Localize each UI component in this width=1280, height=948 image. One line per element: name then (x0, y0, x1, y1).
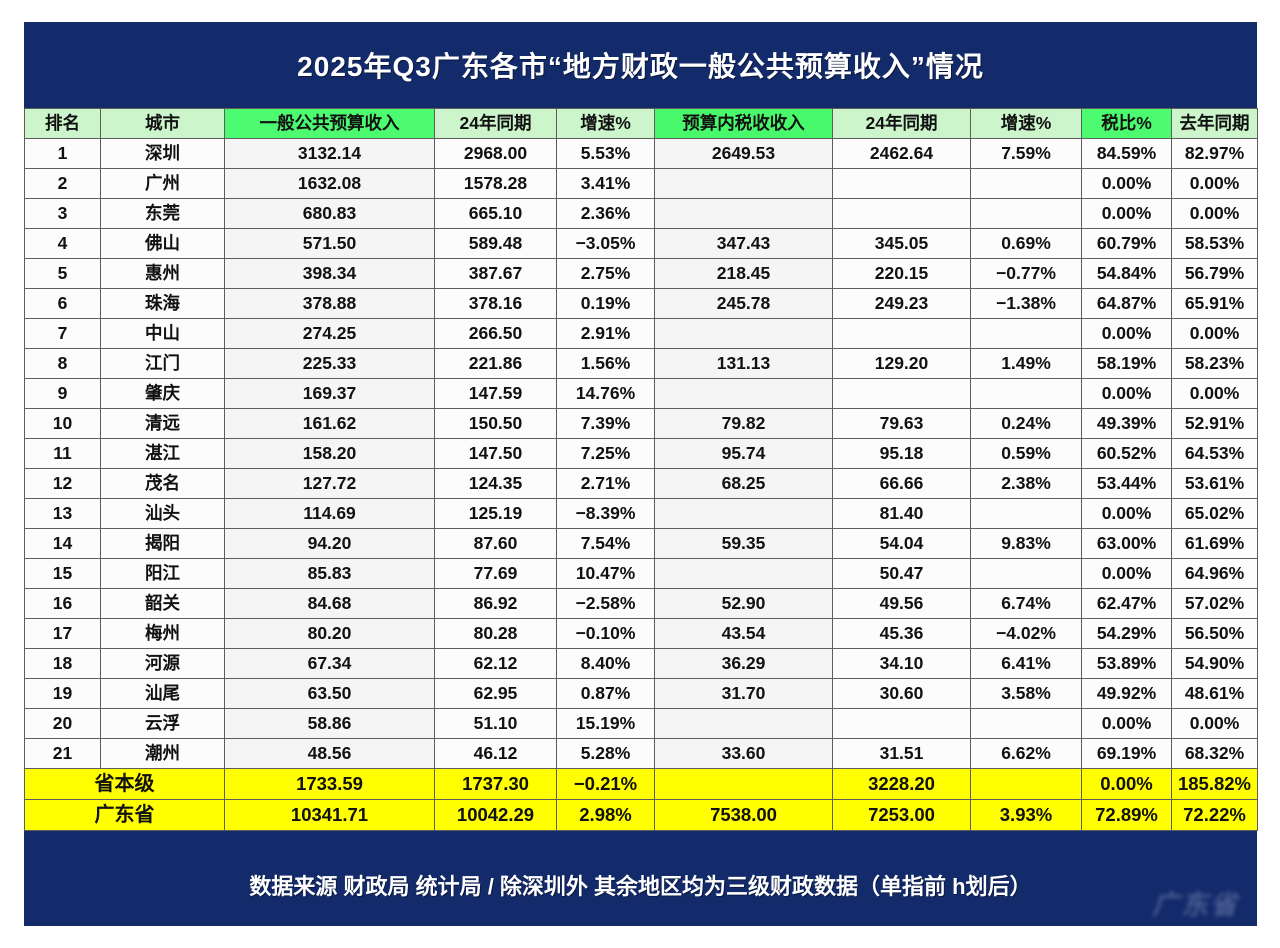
cell-revenue-prior: 221.86 (435, 349, 557, 379)
cell-tax-ratio: 64.87% (1082, 289, 1172, 319)
cell-city: 河源 (101, 649, 225, 679)
cell-tax-ratio-prior: 0.00% (1172, 379, 1258, 409)
table-row: 16韶关84.6886.92−2.58%52.9049.566.74%62.47… (25, 589, 1258, 619)
cell-tax-ratio-prior: 65.91% (1172, 289, 1258, 319)
cell-tax-prior: 81.40 (833, 499, 971, 529)
cell-tax-ratio-prior: 54.90% (1172, 649, 1258, 679)
cell-tax-prior: 7253.00 (833, 800, 971, 831)
cell-general-revenue: 94.20 (225, 529, 435, 559)
table-row: 15阳江85.8377.6910.47%50.470.00%64.96% (25, 559, 1258, 589)
cell-tax-revenue: 245.78 (655, 289, 833, 319)
cell-tax-prior: 49.56 (833, 589, 971, 619)
cell-tax-ratio: 53.89% (1082, 649, 1172, 679)
footer-note: 数据来源 财政局 统计局 / 除深圳外 其余地区均为三级财政数据（单指前 h划后… (249, 856, 1031, 901)
table-body: 1深圳3132.142968.005.53%2649.532462.647.59… (25, 139, 1258, 831)
col-header-revenue-growth: 增速% (557, 109, 655, 139)
cell-tax-ratio: 49.92% (1082, 679, 1172, 709)
table-row: 5惠州398.34387.672.75%218.45220.15−0.77%54… (25, 259, 1258, 289)
cell-city: 清远 (101, 409, 225, 439)
cell-revenue-prior: 10042.29 (435, 800, 557, 831)
table-row: 18河源67.3462.128.40%36.2934.106.41%53.89%… (25, 649, 1258, 679)
cell-city: 肇庆 (101, 379, 225, 409)
cell-general-revenue: 3132.14 (225, 139, 435, 169)
cell-city: 中山 (101, 319, 225, 349)
cell-general-revenue: 114.69 (225, 499, 435, 529)
col-header-tax-ratio: 税比% (1082, 109, 1172, 139)
cell-tax-revenue (655, 709, 833, 739)
cell-tax-growth: 1.49% (971, 349, 1082, 379)
cell-general-revenue: 169.37 (225, 379, 435, 409)
summary-row: 广东省10341.7110042.292.98%7538.007253.003.… (25, 800, 1258, 831)
cell-revenue-growth: −2.58% (557, 589, 655, 619)
table-row: 14揭阳94.2087.607.54%59.3554.049.83%63.00%… (25, 529, 1258, 559)
cell-tax-prior: 31.51 (833, 739, 971, 769)
cell-revenue-growth: 2.98% (557, 800, 655, 831)
cell-revenue-growth: 2.75% (557, 259, 655, 289)
table-row: 4佛山571.50589.48−3.05%347.43345.050.69%60… (25, 229, 1258, 259)
cell-revenue-growth: 0.19% (557, 289, 655, 319)
cell-tax-revenue: 33.60 (655, 739, 833, 769)
cell-tax-ratio-prior: 58.23% (1172, 349, 1258, 379)
cell-general-revenue: 10341.71 (225, 800, 435, 831)
cell-general-revenue: 127.72 (225, 469, 435, 499)
cell-tax-prior: 79.63 (833, 409, 971, 439)
cell-rank: 4 (25, 229, 101, 259)
cell-revenue-prior: 62.12 (435, 649, 557, 679)
table-row: 13汕头114.69125.19−8.39%81.400.00%65.02% (25, 499, 1258, 529)
col-header-tax-growth: 增速% (971, 109, 1082, 139)
table-row: 3东莞680.83665.102.36%0.00%0.00% (25, 199, 1258, 229)
cell-rank: 1 (25, 139, 101, 169)
cell-tax-ratio: 60.79% (1082, 229, 1172, 259)
cell-tax-revenue (655, 319, 833, 349)
cell-tax-ratio: 60.52% (1082, 439, 1172, 469)
cell-tax-ratio: 53.44% (1082, 469, 1172, 499)
cell-city: 茂名 (101, 469, 225, 499)
cell-tax-ratio-prior: 0.00% (1172, 199, 1258, 229)
cell-tax-growth: −1.38% (971, 289, 1082, 319)
cell-rank: 18 (25, 649, 101, 679)
cell-tax-ratio-prior: 0.00% (1172, 709, 1258, 739)
cell-general-revenue: 1733.59 (225, 769, 435, 800)
cell-tax-prior (833, 379, 971, 409)
cell-tax-ratio: 0.00% (1082, 559, 1172, 589)
cell-tax-ratio-prior: 57.02% (1172, 589, 1258, 619)
page-root: 2025年Q3广东各市“地方财政一般公共预算收入”情况 排名 城市 一 (0, 0, 1280, 948)
cell-revenue-growth: −8.39% (557, 499, 655, 529)
cell-tax-revenue: 31.70 (655, 679, 833, 709)
cell-city: 湛江 (101, 439, 225, 469)
cell-city: 惠州 (101, 259, 225, 289)
cell-revenue-growth: 1.56% (557, 349, 655, 379)
cell-revenue-prior: 150.50 (435, 409, 557, 439)
cell-tax-ratio-prior: 61.69% (1172, 529, 1258, 559)
cell-revenue-growth: 8.40% (557, 649, 655, 679)
cell-tax-prior: 3228.20 (833, 769, 971, 800)
page-title: 2025年Q3广东各市“地方财政一般公共预算收入”情况 (297, 45, 984, 85)
cell-revenue-growth: 5.28% (557, 739, 655, 769)
cell-revenue-growth: 2.36% (557, 199, 655, 229)
cell-city: 东莞 (101, 199, 225, 229)
cell-summary-label: 广东省 (25, 800, 225, 831)
table-row: 17梅州80.2080.28−0.10%43.5445.36−4.02%54.2… (25, 619, 1258, 649)
cell-tax-ratio: 49.39% (1082, 409, 1172, 439)
cell-city: 佛山 (101, 229, 225, 259)
table-row: 6珠海378.88378.160.19%245.78249.23−1.38%64… (25, 289, 1258, 319)
cell-tax-prior: 220.15 (833, 259, 971, 289)
cell-city: 梅州 (101, 619, 225, 649)
cell-tax-revenue: 79.82 (655, 409, 833, 439)
watermark: 广东省 (1152, 883, 1239, 922)
cell-tax-growth: 7.59% (971, 139, 1082, 169)
cell-tax-prior: 2462.64 (833, 139, 971, 169)
cell-city: 潮州 (101, 739, 225, 769)
cell-tax-ratio: 84.59% (1082, 139, 1172, 169)
table-row: 9肇庆169.37147.5914.76%0.00%0.00% (25, 379, 1258, 409)
table-row: 10清远161.62150.507.39%79.8279.630.24%49.3… (25, 409, 1258, 439)
cell-general-revenue: 85.83 (225, 559, 435, 589)
col-header-rank: 排名 (25, 109, 101, 139)
cell-general-revenue: 63.50 (225, 679, 435, 709)
cell-tax-growth (971, 199, 1082, 229)
cell-rank: 3 (25, 199, 101, 229)
cell-revenue-growth: −3.05% (557, 229, 655, 259)
cell-rank: 6 (25, 289, 101, 319)
cell-revenue-growth: −0.10% (557, 619, 655, 649)
cell-revenue-growth: 15.19% (557, 709, 655, 739)
cell-tax-revenue: 347.43 (655, 229, 833, 259)
cell-city: 阳江 (101, 559, 225, 589)
cell-general-revenue: 48.56 (225, 739, 435, 769)
cell-tax-ratio: 0.00% (1082, 709, 1172, 739)
cell-tax-revenue (655, 169, 833, 199)
cell-revenue-prior: 2968.00 (435, 139, 557, 169)
cell-tax-growth: 0.24% (971, 409, 1082, 439)
cell-city: 汕头 (101, 499, 225, 529)
cell-revenue-prior: 86.92 (435, 589, 557, 619)
cell-tax-ratio-prior: 52.91% (1172, 409, 1258, 439)
cell-tax-ratio: 0.00% (1082, 379, 1172, 409)
table-row: 19汕尾63.5062.950.87%31.7030.603.58%49.92%… (25, 679, 1258, 709)
cell-city: 江门 (101, 349, 225, 379)
cell-tax-prior: 95.18 (833, 439, 971, 469)
table-row: 11湛江158.20147.507.25%95.7495.180.59%60.5… (25, 439, 1258, 469)
cell-rank: 5 (25, 259, 101, 289)
cell-general-revenue: 84.68 (225, 589, 435, 619)
cell-tax-prior: 129.20 (833, 349, 971, 379)
cell-tax-ratio: 72.89% (1082, 800, 1172, 831)
cell-tax-prior: 30.60 (833, 679, 971, 709)
cell-general-revenue: 161.62 (225, 409, 435, 439)
col-header-general-revenue: 一般公共预算收入 (225, 109, 435, 139)
table-row: 1深圳3132.142968.005.53%2649.532462.647.59… (25, 139, 1258, 169)
cell-tax-ratio-prior: 68.32% (1172, 739, 1258, 769)
cell-general-revenue: 1632.08 (225, 169, 435, 199)
cell-tax-ratio: 58.19% (1082, 349, 1172, 379)
cell-tax-revenue: 68.25 (655, 469, 833, 499)
cell-revenue-prior: 266.50 (435, 319, 557, 349)
cell-revenue-prior: 665.10 (435, 199, 557, 229)
cell-tax-prior (833, 709, 971, 739)
cell-tax-growth (971, 379, 1082, 409)
cell-general-revenue: 378.88 (225, 289, 435, 319)
cell-tax-prior (833, 199, 971, 229)
cell-revenue-prior: 124.35 (435, 469, 557, 499)
cell-tax-growth (971, 559, 1082, 589)
cell-revenue-prior: 51.10 (435, 709, 557, 739)
cell-rank: 7 (25, 319, 101, 349)
cell-tax-revenue (655, 199, 833, 229)
cell-rank: 12 (25, 469, 101, 499)
cell-rank: 16 (25, 589, 101, 619)
cell-tax-growth: 6.62% (971, 739, 1082, 769)
cell-rank: 10 (25, 409, 101, 439)
cell-city: 云浮 (101, 709, 225, 739)
cell-tax-revenue: 7538.00 (655, 800, 833, 831)
cell-city: 汕尾 (101, 679, 225, 709)
table-header: 排名 城市 一般公共预算收入 24年同期 增速% 预算内税收收入 24年同期 增… (25, 109, 1258, 139)
cell-rank: 14 (25, 529, 101, 559)
cell-city: 珠海 (101, 289, 225, 319)
cell-tax-growth: 6.41% (971, 649, 1082, 679)
cell-revenue-growth: 14.76% (557, 379, 655, 409)
cell-tax-ratio-prior: 48.61% (1172, 679, 1258, 709)
cell-rank: 9 (25, 379, 101, 409)
cell-revenue-prior: 46.12 (435, 739, 557, 769)
cell-tax-growth (971, 319, 1082, 349)
cell-tax-revenue: 218.45 (655, 259, 833, 289)
cell-tax-ratio-prior: 0.00% (1172, 169, 1258, 199)
footer-bar: 数据来源 财政局 统计局 / 除深圳外 其余地区均为三级财政数据（单指前 h划后… (24, 856, 1257, 926)
table-row: 2广州1632.081578.283.41%0.00%0.00% (25, 169, 1258, 199)
cell-revenue-growth: 3.41% (557, 169, 655, 199)
cell-tax-prior: 54.04 (833, 529, 971, 559)
cell-rank: 2 (25, 169, 101, 199)
table-row: 20云浮58.8651.1015.19%0.00%0.00% (25, 709, 1258, 739)
cell-revenue-prior: 80.28 (435, 619, 557, 649)
cell-rank: 19 (25, 679, 101, 709)
cell-rank: 15 (25, 559, 101, 589)
cell-city: 广州 (101, 169, 225, 199)
cell-revenue-prior: 125.19 (435, 499, 557, 529)
cell-general-revenue: 67.34 (225, 649, 435, 679)
cell-revenue-prior: 147.59 (435, 379, 557, 409)
cell-tax-growth (971, 709, 1082, 739)
cell-revenue-growth: 0.87% (557, 679, 655, 709)
cell-city: 揭阳 (101, 529, 225, 559)
cell-tax-revenue: 43.54 (655, 619, 833, 649)
cell-tax-revenue (655, 769, 833, 800)
cell-tax-ratio: 54.29% (1082, 619, 1172, 649)
cell-tax-prior: 345.05 (833, 229, 971, 259)
cell-tax-revenue: 2649.53 (655, 139, 833, 169)
cell-tax-prior (833, 319, 971, 349)
cell-tax-revenue (655, 499, 833, 529)
cell-tax-ratio: 54.84% (1082, 259, 1172, 289)
cell-tax-growth: 3.93% (971, 800, 1082, 831)
cell-tax-ratio: 62.47% (1082, 589, 1172, 619)
cell-general-revenue: 158.20 (225, 439, 435, 469)
cell-tax-growth: 9.83% (971, 529, 1082, 559)
cell-tax-ratio-prior: 56.50% (1172, 619, 1258, 649)
col-header-tax-ratio-prior: 去年同期 (1172, 109, 1258, 139)
finance-table: 排名 城市 一般公共预算收入 24年同期 增速% 预算内税收收入 24年同期 增… (24, 108, 1258, 831)
cell-rank: 11 (25, 439, 101, 469)
cell-revenue-growth: 7.39% (557, 409, 655, 439)
cell-summary-label: 省本级 (25, 769, 225, 800)
cell-rank: 21 (25, 739, 101, 769)
cell-tax-revenue (655, 379, 833, 409)
table-row: 12茂名127.72124.352.71%68.2566.662.38%53.4… (25, 469, 1258, 499)
cell-tax-revenue: 59.35 (655, 529, 833, 559)
cell-rank: 20 (25, 709, 101, 739)
col-header-tax-prior: 24年同期 (833, 109, 971, 139)
table-row: 21潮州48.5646.125.28%33.6031.516.62%69.19%… (25, 739, 1258, 769)
cell-tax-prior: 66.66 (833, 469, 971, 499)
cell-revenue-growth: 7.25% (557, 439, 655, 469)
cell-revenue-prior: 77.69 (435, 559, 557, 589)
data-table-wrap: 排名 城市 一般公共预算收入 24年同期 增速% 预算内税收收入 24年同期 增… (24, 108, 1257, 831)
cell-revenue-prior: 1578.28 (435, 169, 557, 199)
cell-revenue-growth: −0.21% (557, 769, 655, 800)
cell-tax-ratio-prior: 56.79% (1172, 259, 1258, 289)
summary-row: 省本级1733.591737.30−0.21%3228.200.00%185.8… (25, 769, 1258, 800)
cell-revenue-prior: 62.95 (435, 679, 557, 709)
col-header-tax-revenue: 预算内税收收入 (655, 109, 833, 139)
cell-tax-ratio: 0.00% (1082, 499, 1172, 529)
cell-city: 深圳 (101, 139, 225, 169)
cell-tax-growth: 0.59% (971, 439, 1082, 469)
cell-revenue-prior: 589.48 (435, 229, 557, 259)
cell-tax-ratio: 0.00% (1082, 199, 1172, 229)
cell-tax-revenue (655, 559, 833, 589)
cell-revenue-prior: 387.67 (435, 259, 557, 289)
cell-tax-ratio-prior: 82.97% (1172, 139, 1258, 169)
cell-tax-ratio-prior: 64.53% (1172, 439, 1258, 469)
cell-tax-growth: −0.77% (971, 259, 1082, 289)
cell-general-revenue: 274.25 (225, 319, 435, 349)
cell-tax-growth: −4.02% (971, 619, 1082, 649)
table-row: 8江门225.33221.861.56%131.13129.201.49%58.… (25, 349, 1258, 379)
cell-tax-ratio-prior: 185.82% (1172, 769, 1258, 800)
cell-tax-growth: 2.38% (971, 469, 1082, 499)
cell-general-revenue: 680.83 (225, 199, 435, 229)
cell-tax-prior: 34.10 (833, 649, 971, 679)
cell-tax-revenue: 36.29 (655, 649, 833, 679)
cell-tax-growth: 0.69% (971, 229, 1082, 259)
cell-tax-ratio-prior: 58.53% (1172, 229, 1258, 259)
cell-revenue-prior: 1737.30 (435, 769, 557, 800)
cell-tax-ratio: 0.00% (1082, 169, 1172, 199)
title-bar: 2025年Q3广东各市“地方财政一般公共预算收入”情况 (24, 22, 1257, 108)
cell-tax-growth (971, 769, 1082, 800)
cell-tax-ratio-prior: 65.02% (1172, 499, 1258, 529)
cell-revenue-prior: 147.50 (435, 439, 557, 469)
cell-revenue-growth: 7.54% (557, 529, 655, 559)
cell-tax-growth (971, 499, 1082, 529)
cell-general-revenue: 398.34 (225, 259, 435, 289)
cell-rank: 17 (25, 619, 101, 649)
cell-tax-prior: 50.47 (833, 559, 971, 589)
cell-tax-ratio: 69.19% (1082, 739, 1172, 769)
cell-rank: 8 (25, 349, 101, 379)
cell-tax-ratio-prior: 0.00% (1172, 319, 1258, 349)
cell-tax-growth: 6.74% (971, 589, 1082, 619)
cell-revenue-growth: 2.71% (557, 469, 655, 499)
cell-tax-revenue: 95.74 (655, 439, 833, 469)
cell-tax-prior (833, 169, 971, 199)
cell-general-revenue: 571.50 (225, 229, 435, 259)
cell-tax-ratio-prior: 64.96% (1172, 559, 1258, 589)
cell-tax-growth (971, 169, 1082, 199)
cell-general-revenue: 80.20 (225, 619, 435, 649)
cell-tax-ratio-prior: 53.61% (1172, 469, 1258, 499)
cell-tax-ratio: 63.00% (1082, 529, 1172, 559)
cell-tax-revenue: 131.13 (655, 349, 833, 379)
cell-rank: 13 (25, 499, 101, 529)
cell-revenue-growth: 10.47% (557, 559, 655, 589)
cell-tax-prior: 249.23 (833, 289, 971, 319)
cell-tax-ratio-prior: 72.22% (1172, 800, 1258, 831)
cell-tax-ratio: 0.00% (1082, 319, 1172, 349)
cell-revenue-growth: 2.91% (557, 319, 655, 349)
cell-city: 韶关 (101, 589, 225, 619)
cell-general-revenue: 58.86 (225, 709, 435, 739)
col-header-revenue-prior: 24年同期 (435, 109, 557, 139)
cell-tax-revenue: 52.90 (655, 589, 833, 619)
cell-revenue-growth: 5.53% (557, 139, 655, 169)
cell-revenue-prior: 87.60 (435, 529, 557, 559)
cell-general-revenue: 225.33 (225, 349, 435, 379)
cell-revenue-prior: 378.16 (435, 289, 557, 319)
cell-tax-growth: 3.58% (971, 679, 1082, 709)
cell-tax-ratio: 0.00% (1082, 769, 1172, 800)
col-header-city: 城市 (101, 109, 225, 139)
cell-tax-prior: 45.36 (833, 619, 971, 649)
table-header-row: 排名 城市 一般公共预算收入 24年同期 增速% 预算内税收收入 24年同期 增… (25, 109, 1258, 139)
table-row: 7中山274.25266.502.91%0.00%0.00% (25, 319, 1258, 349)
